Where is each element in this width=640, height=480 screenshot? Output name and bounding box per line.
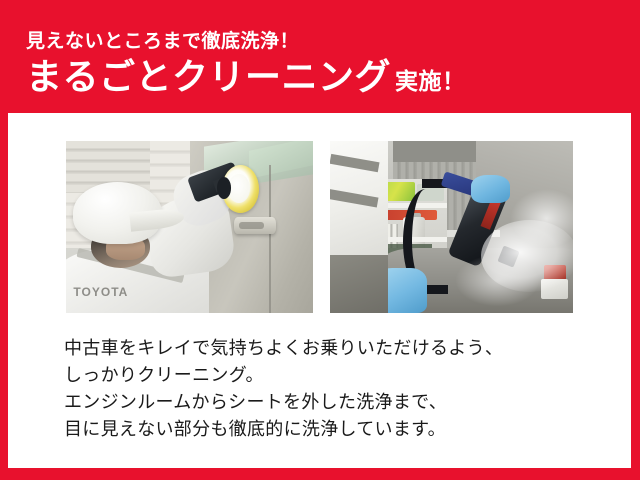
header-headline: まるごとクリーニング 実施！	[26, 58, 466, 102]
steam-cloud-upper	[510, 189, 573, 247]
header-band: 見えないところまで徹底洗浄！ まるごとクリーニング 実施！	[0, 0, 640, 113]
content-panel: TOYOTA	[8, 113, 631, 468]
description-line-1: 中古車をキレイで気持ちよくお乗りいただけるよう、	[64, 335, 503, 362]
car-door-seam	[269, 165, 271, 313]
steam-cloud-lower	[456, 255, 539, 307]
headline-main-text: まるごとクリーニング	[26, 58, 391, 98]
headline-suffix-text: 実施！	[395, 62, 466, 102]
description-text: 中古車をキレイで気持ちよくお乗りいただけるよう、 しっかりクリーニング。 エンジ…	[64, 335, 503, 443]
steam-cleaning-photo	[330, 141, 573, 313]
description-line-4: 目に見えない部分も徹底的に洗浄しています。	[64, 416, 503, 443]
polisher-pad-center	[228, 174, 250, 203]
promo-banner-card: 見えないところまで徹底洗浄！ まるごとクリーニング 実施！	[0, 0, 640, 480]
description-line-2: しっかりクリーニング。	[64, 362, 503, 389]
uniform-logo-text: TOYOTA	[73, 285, 128, 299]
car-door-handle-recess	[239, 222, 264, 229]
header-kicker: 見えないところまで徹底洗浄！	[26, 26, 299, 53]
description-line-3: エンジンルームからシートを外した洗浄まで、	[64, 389, 503, 416]
polishing-photo: TOYOTA	[66, 141, 313, 313]
worker-glove-upper	[471, 175, 510, 203]
worker-trousers	[330, 255, 388, 313]
